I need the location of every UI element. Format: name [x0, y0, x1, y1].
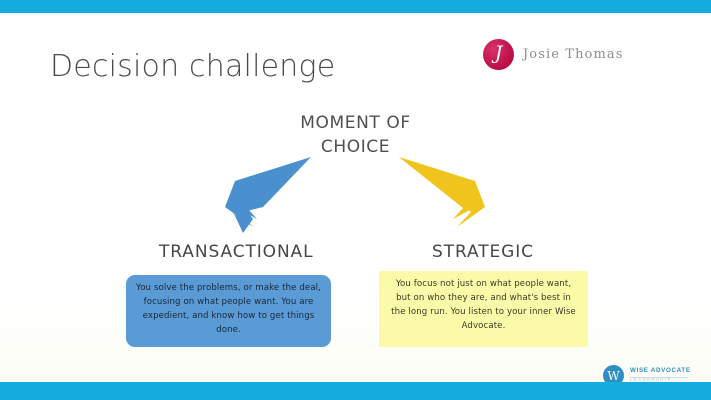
bottom-accent-bar [0, 382, 711, 400]
wise-advocate-wordmark: WISE ADVOCATE LEADERSHIP [630, 368, 691, 382]
branch-label-transactional: TRANSACTIONAL [159, 242, 313, 262]
wise-advocate-name: WISE ADVOCATE [630, 368, 691, 375]
slide-content-area: Decision challenge J Josie Thomas MOMENT… [0, 13, 711, 382]
brand-lockup: J Josie Thomas [483, 39, 624, 70]
brand-name: Josie Thomas [523, 47, 624, 62]
moment-of-choice-line-2: CHOICE [0, 135, 711, 159]
moment-of-choice-line-1: MOMENT OF [0, 111, 711, 135]
slide-canvas: Decision challenge J Josie Thomas MOMENT… [0, 0, 711, 400]
transactional-arrow-icon [195, 155, 315, 247]
page-title: Decision challenge [50, 49, 335, 84]
callout-strategic: You focus not just on what people want, … [379, 271, 588, 347]
branch-label-strategic: STRATEGIC [432, 242, 534, 262]
josie-thomas-monogram-icon: J [483, 39, 514, 70]
callout-transactional: You solve the problems, or make the deal… [126, 275, 331, 347]
strategic-arrow-icon [395, 155, 515, 247]
moment-of-choice-heading: MOMENT OF CHOICE [0, 111, 711, 159]
top-accent-bar [0, 0, 711, 13]
